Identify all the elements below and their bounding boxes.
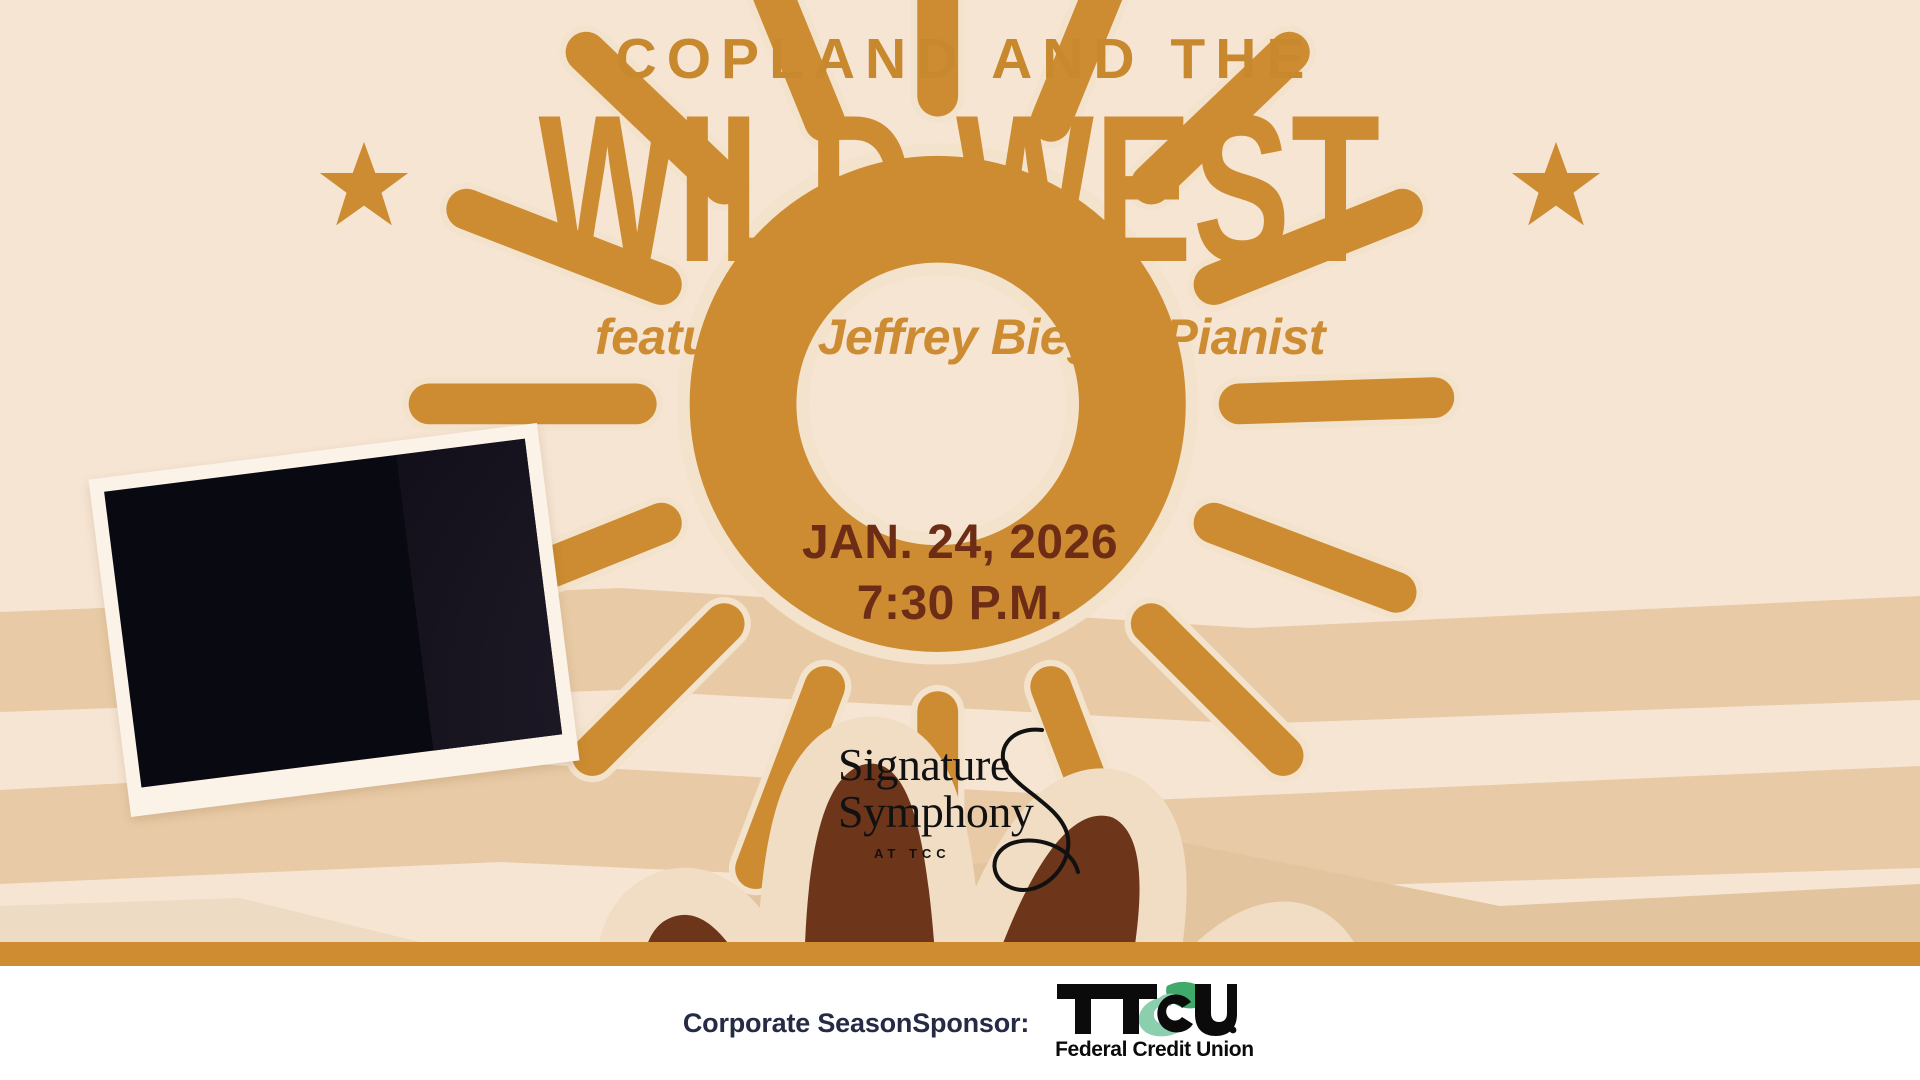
logo-wordmark: Signature Symphony <box>838 742 1033 836</box>
event-banner: STEINWAY & SO <box>0 0 1920 1080</box>
ttcu-wordmark-icon <box>1055 980 1237 1040</box>
ttcu-logo: Federal Credit Union <box>1055 980 1237 1066</box>
logo-tagline: AT TCC <box>874 846 951 861</box>
orange-divider-bar <box>0 942 1920 966</box>
sponsor-label: Corporate SeasonSponsor: <box>683 1008 1029 1039</box>
sponsor-footer: Corporate SeasonSponsor: Federal Cre <box>0 966 1920 1080</box>
pianist-photo-polaroid: STEINWAY & SO <box>88 423 579 817</box>
ttcu-subtext: Federal Credit Union <box>1055 1038 1237 1062</box>
signature-symphony-logo: Signature Symphony AT TCC <box>830 728 1100 888</box>
logo-line-1: Signature <box>838 742 1033 789</box>
pianist-photo: STEINWAY & SO <box>104 439 562 788</box>
logo-line-2: Symphony <box>838 789 1033 836</box>
